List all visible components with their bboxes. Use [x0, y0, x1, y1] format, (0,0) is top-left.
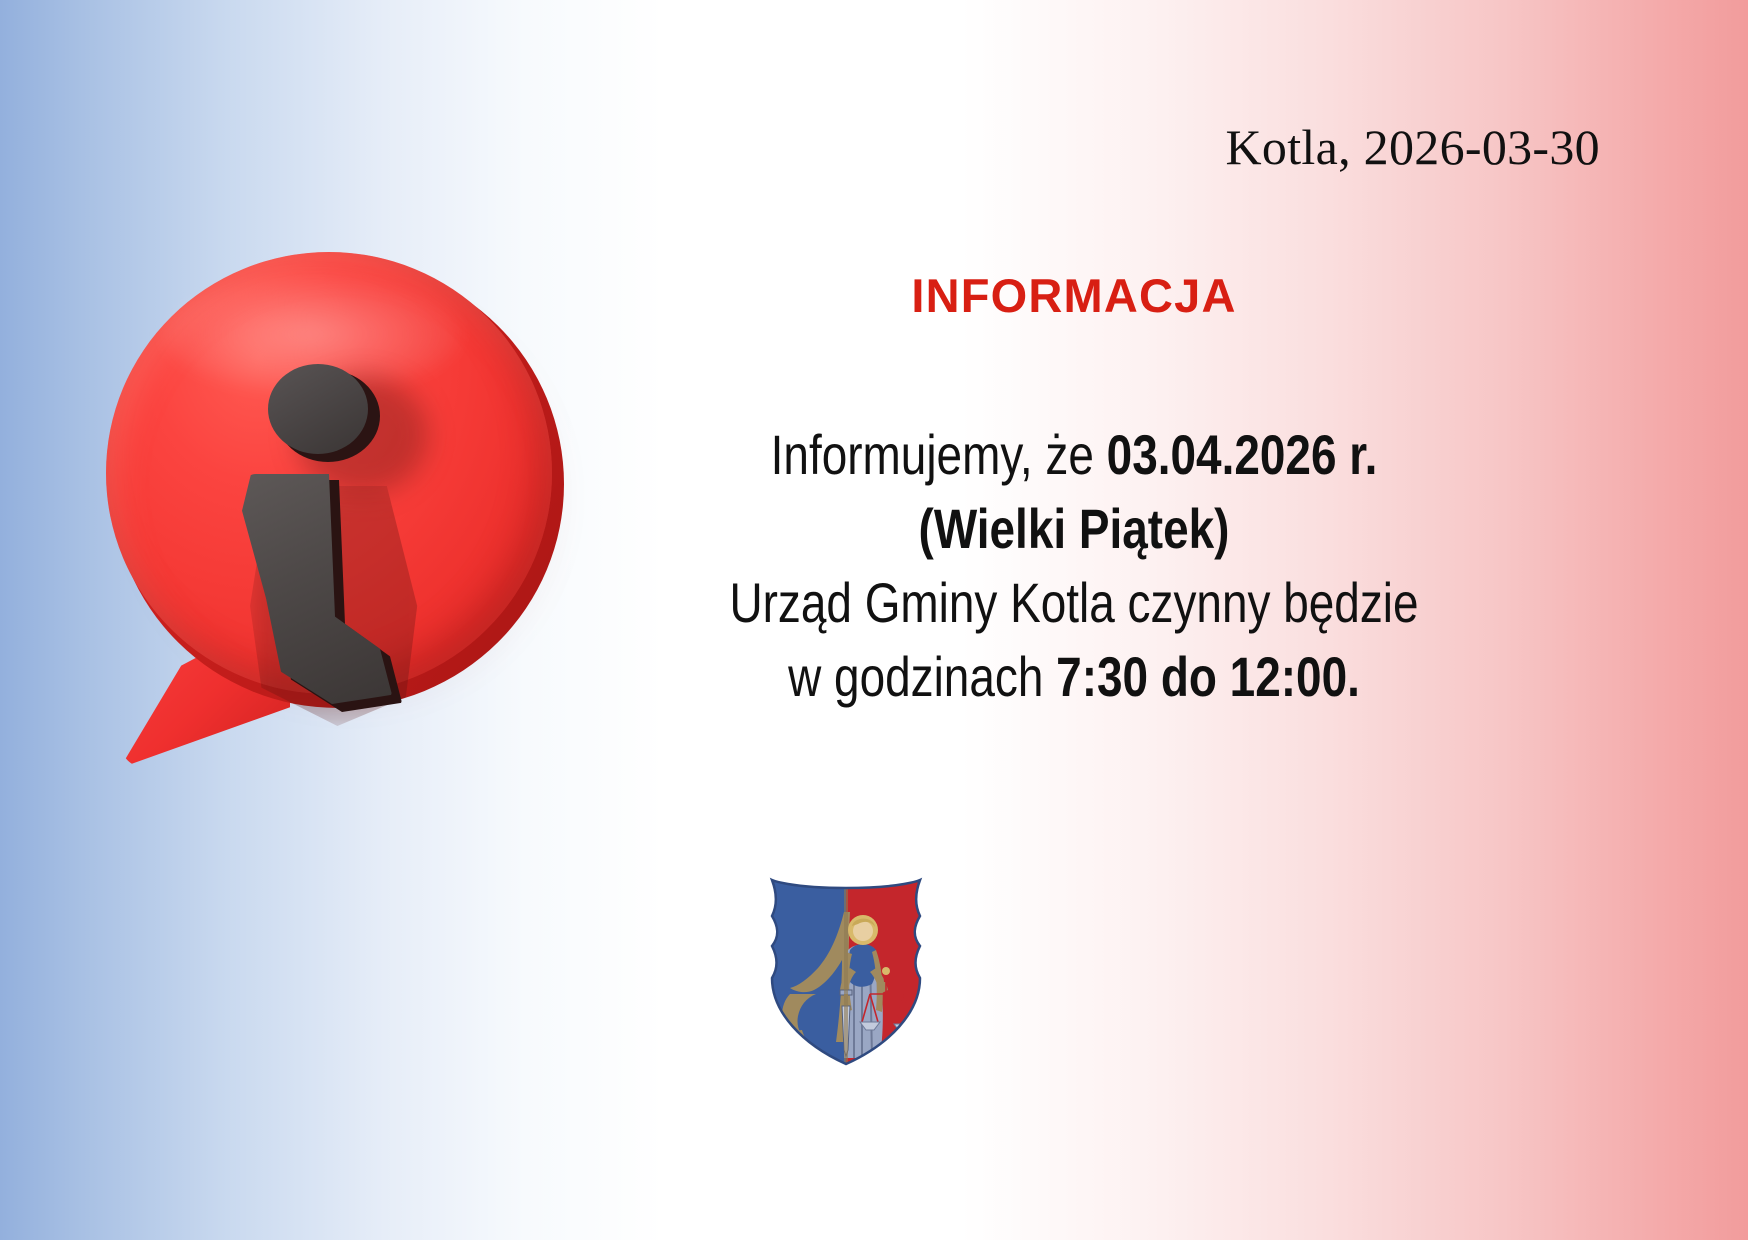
coat-of-arms-kotla-icon: [762, 872, 930, 1068]
poster-canvas: Kotla, 2026-03-30 INFORMACJA Informujemy…: [0, 0, 1748, 1240]
info-speech-bubble-icon: [100, 248, 600, 768]
place-and-date: Kotla, 2026-03-30: [1226, 118, 1601, 176]
announcement-body: Informujemy, że 03.04.2026 r. (Wielki Pi…: [685, 418, 1462, 714]
body-line-1-plain: Informujemy, że: [771, 423, 1107, 486]
body-line-3: Urząd Gminy Kotla czynny będzie: [685, 566, 1462, 640]
page-title: INFORMACJA: [600, 268, 1548, 323]
body-line-4-bold: 7:30 do 12:00.: [1056, 645, 1360, 708]
body-line-4: w godzinach 7:30 do 12:00.: [685, 640, 1462, 714]
shield-body: [762, 872, 930, 1068]
body-line-2-bold: (Wielki Piątek): [919, 497, 1230, 560]
body-line-2: (Wielki Piątek): [685, 492, 1462, 566]
i-dot: [268, 364, 368, 454]
body-line-4-plain: w godzinach: [788, 645, 1056, 708]
letter-i-glyph: [100, 248, 600, 768]
body-line-3-plain: Urząd Gminy Kotla czynny będzie: [729, 571, 1418, 634]
body-line-1-bold: 03.04.2026 r.: [1107, 423, 1378, 486]
body-line-1: Informujemy, że 03.04.2026 r.: [685, 418, 1462, 492]
